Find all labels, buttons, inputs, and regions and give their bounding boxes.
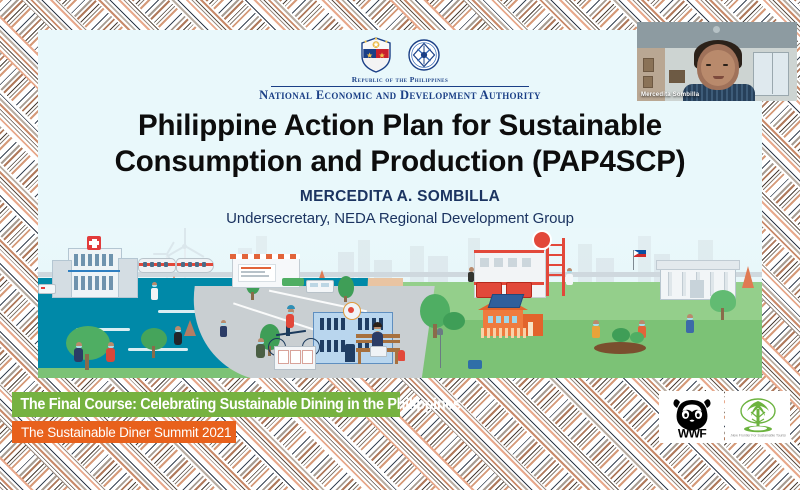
- title-line-1: Philippine Action Plan for Sustainable: [68, 108, 732, 144]
- laptop: [370, 346, 387, 357]
- panda-icon: WWF: [666, 395, 718, 439]
- cam-picture-1: [643, 58, 654, 72]
- webcam-video-tile[interactable]: Mercedita Sombilla: [637, 22, 797, 101]
- trash-bin: [468, 360, 482, 369]
- speaker-role: Undersecretary, NEDA Regional Developmen…: [38, 210, 762, 227]
- cam-eye-right: [723, 64, 728, 66]
- parked-car: [306, 280, 334, 293]
- cam-eye-left: [706, 64, 711, 66]
- info-board: [274, 346, 316, 370]
- cam-picture-2: [643, 76, 653, 88]
- sustainable-city-illustration: [38, 228, 762, 378]
- cam-person-face: [701, 50, 735, 86]
- speaker-name: MERCEDITA A. SOMBILLA: [38, 188, 762, 206]
- ambulance: [38, 284, 56, 294]
- svg-text:WWF: WWF: [677, 427, 705, 440]
- event-title-text: The Final Course: Celebrating Sustainabl…: [12, 396, 461, 414]
- partner-caption: A New Frontier For Sustainable Tourism: [730, 434, 786, 438]
- train-car-3: [176, 258, 214, 273]
- cam-window-sash: [772, 52, 773, 94]
- fire-hydrant: [398, 350, 405, 361]
- participant-name-label: Mercedita Sombilla: [641, 92, 699, 98]
- cell-tower-5: [184, 320, 196, 336]
- philippine-coat-of-arms-seal: [359, 36, 393, 74]
- event-subtitle-banner: The Sustainable Diner Summit 2021: [12, 421, 236, 443]
- partner-tree-logo: A New Frontier For Sustainable Tourism: [725, 391, 790, 443]
- event-subtitle-text: The Sustainable Diner Summit 2021: [12, 425, 231, 440]
- train-car-2: [138, 258, 176, 273]
- title-line-2: Consumption and Production (PAP4SCP): [68, 144, 732, 180]
- cam-picture-3: [669, 70, 685, 83]
- header-divider: [271, 86, 529, 87]
- green-tree-icon: A New Frontier For Sustainable Tourism: [730, 395, 786, 439]
- event-title-banner: The Final Course: Celebrating Sustainabl…: [12, 392, 400, 417]
- cell-tower-4: [742, 266, 754, 288]
- cam-mouth: [713, 76, 724, 79]
- logo-strip: WWF A New Frontier For Sustainable Touri…: [659, 391, 790, 443]
- neda-seal: [407, 36, 441, 74]
- wwf-logo: WWF: [659, 391, 724, 443]
- page-title: Philippine Action Plan for Sustainable C…: [68, 108, 732, 180]
- cam-ceiling-light: [713, 26, 720, 33]
- cam-window: [753, 52, 789, 96]
